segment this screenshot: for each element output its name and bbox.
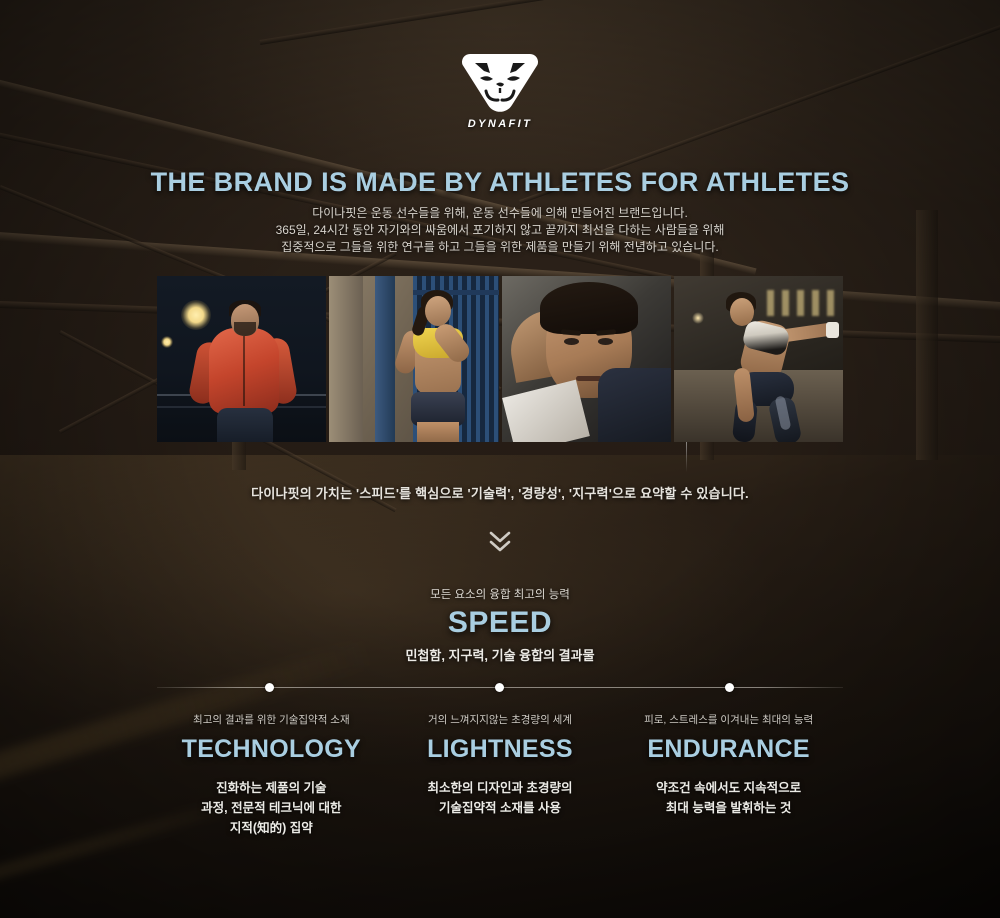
brand-pillars: 최고의 결과를 위한 기술집약적 소재 TECHNOLOGY 진화하는 제품의 … [157,712,843,838]
speed-description: 민첩함, 지구력, 기술 융합의 결과물 [0,645,1000,664]
pillar-subtitle: 거의 느껴지지않는 초경량의 세계 [386,712,615,727]
scroll-down-indicator[interactable] [0,528,1000,554]
photo-night-runner-orange-jacket[interactable] [157,276,326,442]
intro-line-2: 365일, 24시간 동안 자기와의 싸움에서 포기하지 않고 끝까지 최선을 … [0,222,1000,239]
pillar-lightness[interactable]: 거의 느껴지지않는 초경량의 세계 LIGHTNESS 최소한의 디자인과 초경… [386,712,615,838]
pillar-description: 최소한의 디자인과 초경량의 기술집약적 소재를 사용 [386,778,615,818]
divider-dot-technology [265,683,274,692]
intro-paragraph: 다이나핏은 운동 선수들을 위해, 운동 선수들에 의해 만들어진 브랜드입니다… [0,205,1000,256]
double-chevron-down-icon [487,528,513,554]
speed-subtitle: 모든 요소의 융합 최고의 능력 [0,586,1000,602]
vertical-connector-line [686,442,687,472]
pillar-desc-line: 과정, 전문적 테크닉에 대한 [157,798,386,818]
pillar-desc-line: 진화하는 제품의 기술 [157,778,386,798]
pillar-desc-line: 최대 능력을 발휘하는 것 [614,798,843,818]
intro-line-3: 집중적으로 그들을 위한 연구를 하고 그들을 위한 제품을 만들기 위해 전념… [0,239,1000,256]
pillar-endurance[interactable]: 피로, 스트레스를 이겨내는 최대의 능력 ENDURANCE 약조건 속에서도… [614,712,843,838]
pillar-desc-line: 최소한의 디자인과 초경량의 [386,778,615,798]
pillar-title: TECHNOLOGY [157,735,386,764]
pillar-desc-line: 약조건 속에서도 지속적으로 [614,778,843,798]
photo-female-sprint-start[interactable] [674,276,843,442]
divider-dot-lightness [495,683,504,692]
divider-dot-endurance [725,683,734,692]
pillar-subtitle: 피로, 스트레스를 이겨내는 최대의 능력 [614,712,843,727]
pillar-subtitle: 최고의 결과를 위한 기술집약적 소재 [157,712,386,727]
pillar-title: LIGHTNESS [386,735,615,764]
pillar-title: ENDURANCE [614,735,843,764]
page-headline: THE BRAND IS MADE BY ATHLETES FOR ATHLET… [0,167,1000,198]
pillar-technology[interactable]: 최고의 결과를 위한 기술집약적 소재 TECHNOLOGY 진화하는 제품의 … [157,712,386,838]
pillar-desc-line: 기술집약적 소재를 사용 [386,798,615,818]
dynafit-leopard-logo-icon [460,50,540,112]
photo-female-runner-yellow-top[interactable] [329,276,498,442]
brand-wordmark: DYNAFIT [0,118,1000,130]
intro-line-1: 다이나핏은 운동 선수들을 위해, 운동 선수들에 의해 만들어진 브랜드입니다… [0,205,1000,222]
pillar-description: 약조건 속에서도 지속적으로 최대 능력을 발휘하는 것 [614,778,843,818]
pillar-description: 진화하는 제품의 기술 과정, 전문적 테크닉에 대한 지적(知的) 집약 [157,778,386,838]
speed-title: SPEED [0,606,1000,640]
athlete-photo-gallery [157,276,843,442]
photo-male-athlete-closeup[interactable] [502,276,671,442]
brand-logo[interactable]: DYNAFIT [0,50,1000,130]
pillar-desc-line: 지적(知的) 집약 [157,818,386,838]
value-tagline: 다이나핏의 가치는 '스피드'를 핵심으로 '기술력', '경량성', '지구력… [0,483,1000,502]
